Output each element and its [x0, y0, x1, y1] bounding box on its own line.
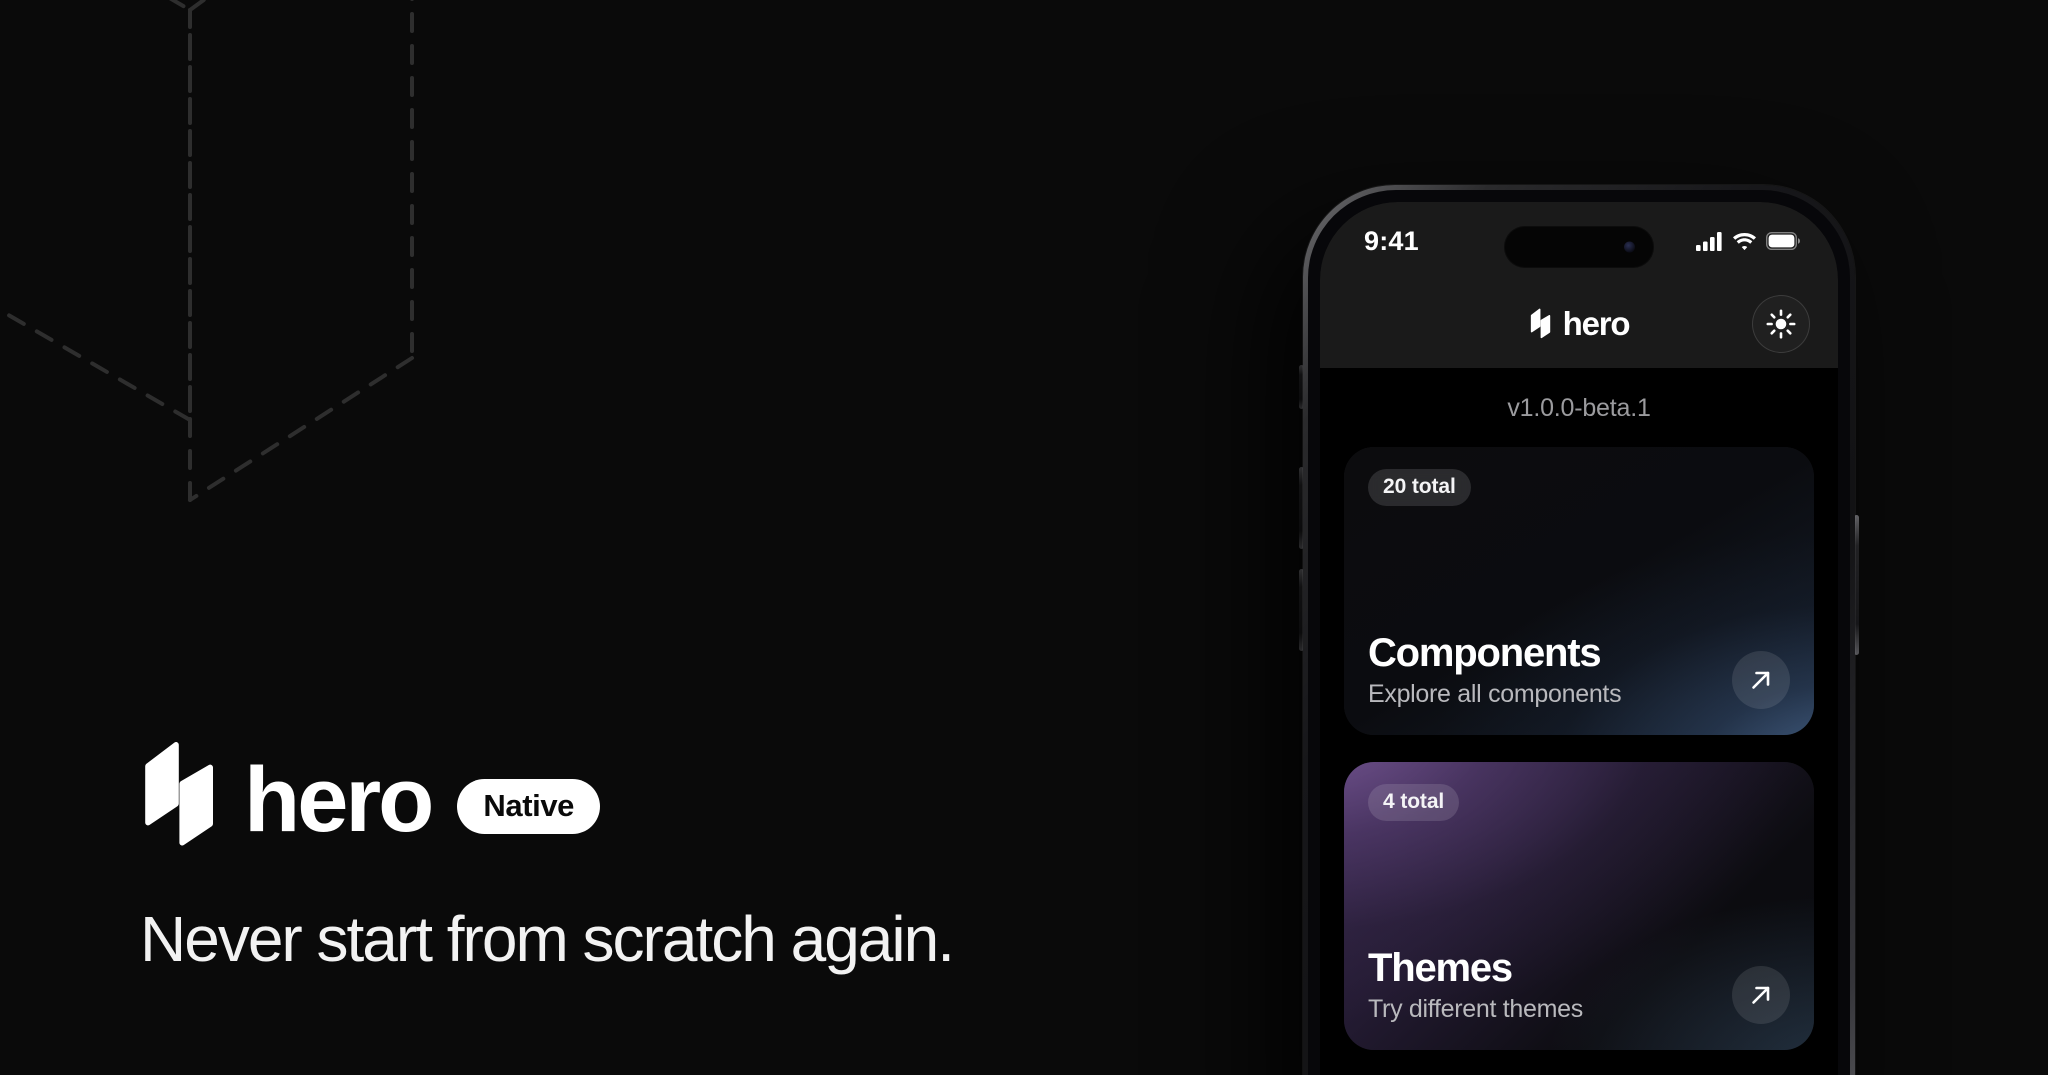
hero-logo-mark [1529, 308, 1552, 340]
native-badge: Native [457, 779, 600, 834]
brand-lockup: hero Native [140, 740, 953, 852]
phone-bezel: 9:41 [1308, 190, 1850, 1075]
nav-brand-label: hero [1563, 305, 1630, 343]
hero-logo-mark [140, 740, 218, 852]
count-badge: 4 total [1368, 784, 1459, 821]
card-open-button[interactable] [1732, 651, 1790, 709]
signal-bars-icon [1696, 232, 1723, 251]
wifi-icon [1732, 232, 1757, 251]
phone-mockup: 9:41 [1303, 185, 1855, 1075]
status-bar: 9:41 [1320, 202, 1838, 280]
tagline: Never start from scratch again. [140, 902, 953, 976]
hero-block: hero Native Never start from scratch aga… [140, 740, 953, 976]
arrow-up-right-icon [1748, 667, 1774, 693]
status-time: 9:41 [1364, 226, 1419, 257]
nav-bar: hero [1320, 280, 1838, 368]
card-title: Components [1368, 631, 1704, 675]
card-text: Components Explore all components [1368, 631, 1704, 709]
status-indicators [1696, 232, 1800, 251]
nav-brand[interactable]: hero [1529, 305, 1630, 343]
sun-icon [1766, 309, 1796, 339]
version-label: v1.0.0-beta.1 [1344, 368, 1814, 447]
background-logo-outline [0, 0, 620, 680]
card-subtitle: Explore all components [1368, 680, 1704, 709]
wordmark: hero [244, 754, 431, 846]
card-text: Themes Try different themes [1368, 946, 1704, 1024]
card-components[interactable]: 20 total Components Explore all componen… [1344, 447, 1814, 735]
theme-toggle-button[interactable] [1752, 295, 1810, 353]
card-themes[interactable]: 4 total Themes Try different themes [1344, 762, 1814, 1050]
screen-content: v1.0.0-beta.1 20 total Components Explor… [1320, 368, 1838, 1075]
card-open-button[interactable] [1732, 966, 1790, 1024]
phone-frame: 9:41 [1303, 185, 1855, 1075]
front-camera-icon [1624, 242, 1635, 253]
battery-full-icon [1766, 232, 1800, 250]
arrow-up-right-icon [1748, 982, 1774, 1008]
count-badge: 20 total [1368, 469, 1471, 506]
card-title: Themes [1368, 946, 1704, 990]
phone-screen: 9:41 [1320, 202, 1838, 1075]
dynamic-island [1504, 226, 1654, 268]
card-subtitle: Try different themes [1368, 995, 1704, 1024]
